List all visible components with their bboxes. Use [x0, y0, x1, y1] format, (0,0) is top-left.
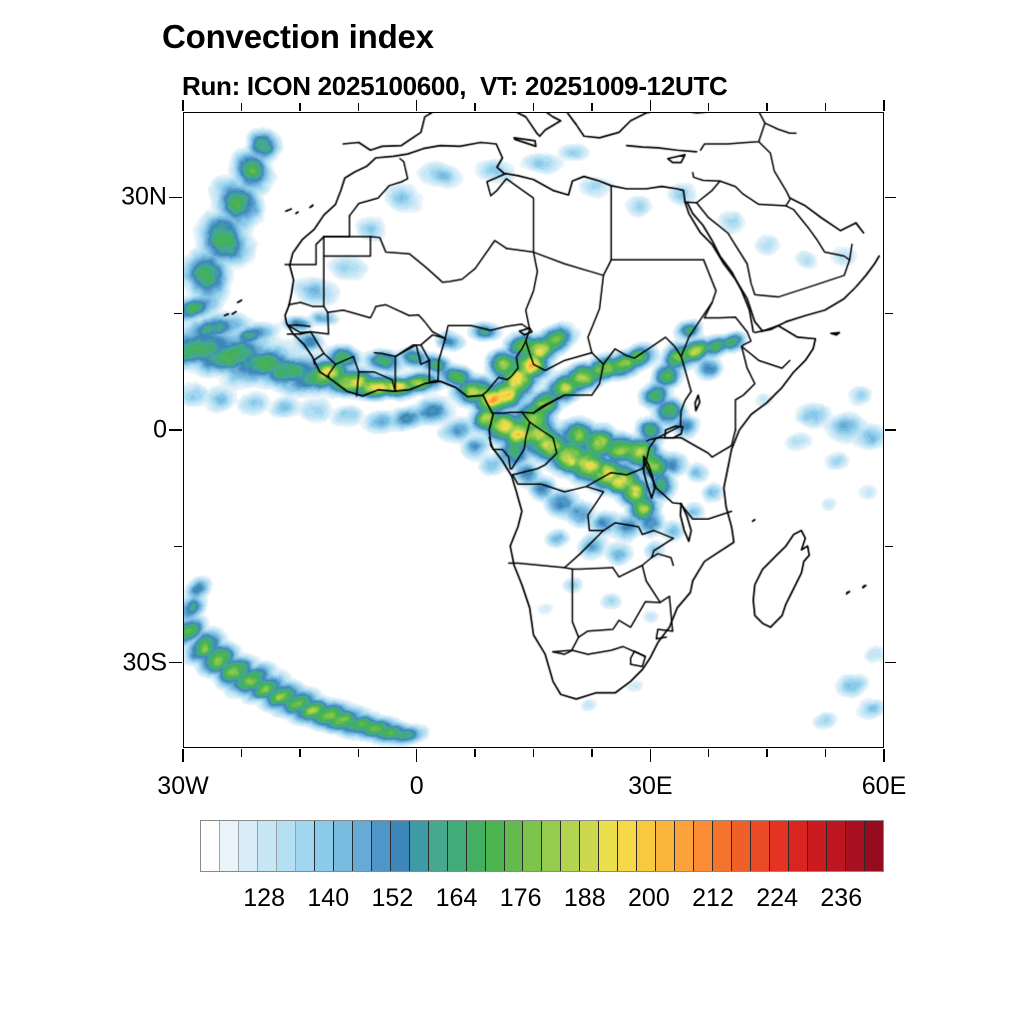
convection-index-heatmap [184, 113, 883, 747]
colorbar-segment [467, 821, 486, 871]
colorbar-segment [391, 821, 410, 871]
y-axis-tick-right [885, 197, 896, 199]
colorbar-tick-label: 224 [756, 884, 798, 913]
x-axis-minor-tick-top [708, 103, 709, 111]
x-axis-minor-tick [533, 749, 534, 757]
x-axis-minor-tick [358, 749, 359, 757]
colorbar-tick-label: 236 [820, 884, 862, 913]
x-axis-label: 30E [628, 772, 672, 801]
colorbar-tick-label: 200 [628, 884, 670, 913]
x-axis-tick-top [883, 100, 885, 111]
colorbar-segment [865, 821, 883, 871]
colorbar-segment [827, 821, 846, 871]
colorbar-segment [637, 821, 656, 871]
colorbar-segment [429, 821, 448, 871]
x-axis-minor-tick [299, 749, 300, 757]
figure-subtitle: Run: ICON 2025100600, VT: 20251009-12UTC [182, 71, 728, 102]
colorbar-segment [239, 821, 258, 871]
x-axis-minor-tick-top [241, 103, 242, 111]
colorbar-segment [220, 821, 239, 871]
colorbar-segment [542, 821, 561, 871]
x-axis-tick-top [182, 100, 184, 111]
x-axis-tick [883, 749, 885, 762]
colorbar-segment [277, 821, 296, 871]
x-axis-label: 0 [410, 772, 424, 801]
x-axis-minor-tick-top [299, 103, 300, 111]
colorbar-segment [505, 821, 524, 871]
y-axis-label: 30N [95, 183, 167, 212]
x-axis-minor-tick [708, 749, 709, 757]
y-axis-tick [169, 197, 182, 199]
x-axis-minor-tick [766, 749, 767, 757]
colorbar-segment [599, 821, 618, 871]
x-axis-minor-tick-top [474, 103, 475, 111]
colorbar-segment [448, 821, 467, 871]
x-axis-minor-tick-top [825, 103, 826, 111]
x-axis-tick [650, 749, 652, 762]
colorbar-segment [694, 821, 713, 871]
x-axis-label: 60E [862, 772, 906, 801]
colorbar-segment [334, 821, 353, 871]
colorbar-segment [410, 821, 429, 871]
colorbar-segment [580, 821, 599, 871]
x-axis-minor-tick-top [358, 103, 359, 111]
colorbar-segment [315, 821, 334, 871]
colorbar-segment [561, 821, 580, 871]
colorbar-tick-label: 140 [307, 884, 349, 913]
y-axis-label: 0 [95, 416, 167, 445]
colorbar-segment [713, 821, 732, 871]
colorbar-segment [751, 821, 770, 871]
x-axis-minor-tick [474, 749, 475, 757]
x-axis-minor-tick-top [533, 103, 534, 111]
colorbar-segment [258, 821, 277, 871]
colorbar-segment [808, 821, 827, 871]
x-axis-tick [416, 749, 418, 762]
x-axis-minor-tick [591, 749, 592, 757]
colorbar-segment [770, 821, 789, 871]
y-axis-minor-tick [174, 313, 182, 314]
x-axis-label: 30W [157, 772, 208, 801]
colorbar-segment [523, 821, 542, 871]
y-axis-tick [169, 662, 182, 664]
colorbar-segment [732, 821, 751, 871]
x-axis-minor-tick-top [766, 103, 767, 111]
colorbar-segment [486, 821, 505, 871]
colorbar[interactable] [200, 820, 884, 872]
colorbar-segment [296, 821, 315, 871]
x-axis-minor-tick [241, 749, 242, 757]
y-axis-minor-tick-right [885, 313, 893, 314]
colorbar-tick-label: 152 [372, 884, 414, 913]
colorbar-tick-label: 164 [436, 884, 478, 913]
y-axis-tick-right [885, 662, 896, 664]
colorbar-segment [353, 821, 372, 871]
colorbar-tick-label: 188 [564, 884, 606, 913]
colorbar-tick-label: 212 [692, 884, 734, 913]
x-axis-tick-top [650, 100, 652, 111]
x-axis-minor-tick-top [591, 103, 592, 111]
x-axis-tick [182, 749, 184, 762]
colorbar-segment [372, 821, 391, 871]
colorbar-segment [618, 821, 637, 871]
colorbar-segment [675, 821, 694, 871]
colorbar-tick-label: 176 [500, 884, 542, 913]
page-title: Convection index [162, 18, 434, 56]
x-axis-tick-top [416, 100, 418, 111]
map-plot-area[interactable] [183, 112, 884, 748]
colorbar-segment [201, 821, 220, 871]
x-axis-minor-tick [825, 749, 826, 757]
y-axis-label: 30S [95, 648, 167, 677]
y-axis-minor-tick [174, 546, 182, 547]
y-axis-tick-right [885, 429, 896, 431]
colorbar-segment [656, 821, 675, 871]
y-axis-minor-tick-right [885, 546, 893, 547]
figure-root: Convection index Run: ICON 2025100600, V… [0, 0, 1024, 1024]
y-axis-tick [169, 429, 182, 431]
colorbar-tick-label: 128 [243, 884, 285, 913]
colorbar-segment [789, 821, 808, 871]
colorbar-segment [846, 821, 865, 871]
